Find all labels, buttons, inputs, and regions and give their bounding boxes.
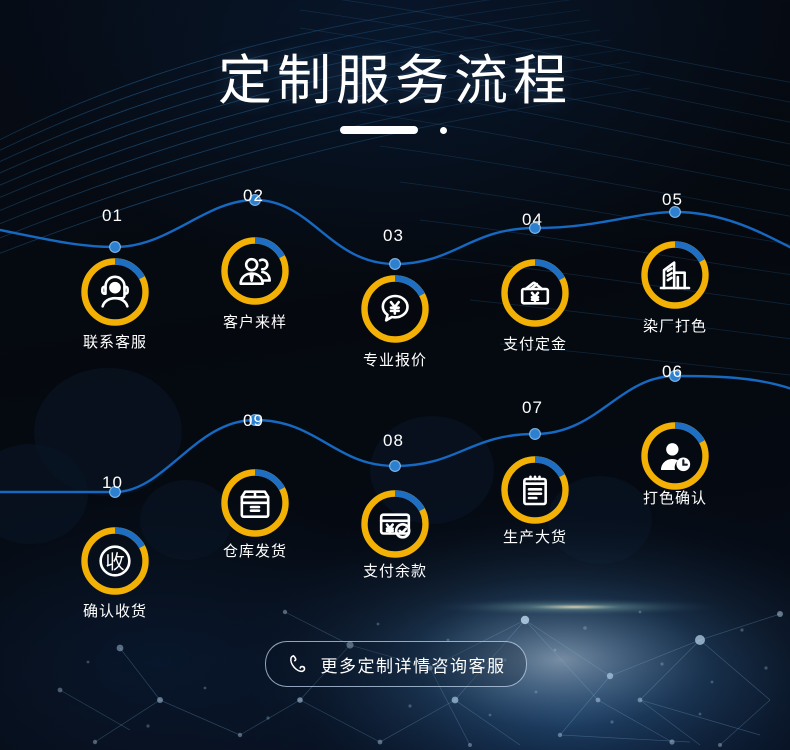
contact-service-label: 更多定制详情咨询客服 xyxy=(321,652,506,677)
process-step-06[interactable] xyxy=(638,419,712,493)
step-label-04: 支付定金 xyxy=(503,333,567,354)
step-ring-05 xyxy=(638,238,712,312)
step-ring-09 xyxy=(218,466,292,540)
quote-bubble-yen-icon xyxy=(358,272,432,346)
title-underline-icon xyxy=(340,124,450,136)
step-ring-02 xyxy=(218,234,292,308)
step-ring-03 xyxy=(358,272,432,346)
step-label-08: 支付余款 xyxy=(363,560,427,581)
process-step-04[interactable] xyxy=(498,256,572,330)
step-ring-10: 收 xyxy=(78,524,152,598)
process-step-10[interactable]: 收 xyxy=(78,524,152,598)
factory-building-icon xyxy=(638,238,712,312)
step-number-02: 02 xyxy=(243,186,264,206)
step-number-10: 10 xyxy=(102,473,123,493)
process-step-01[interactable] xyxy=(78,255,152,329)
process-step-07[interactable] xyxy=(498,453,572,527)
step-number-06: 06 xyxy=(662,362,683,382)
step-label-07: 生产大货 xyxy=(503,526,567,547)
step-ring-06 xyxy=(638,419,712,493)
clipboard-list-icon xyxy=(498,453,572,527)
step-number-05: 05 xyxy=(662,190,683,210)
parcel-box-icon xyxy=(218,466,292,540)
process-step-03[interactable] xyxy=(358,272,432,346)
infographic-canvas: 定制服务流程 01 联系客服02 xyxy=(0,0,790,750)
phone-call-icon xyxy=(287,653,309,675)
step-ring-01 xyxy=(78,255,152,329)
step-number-07: 07 xyxy=(522,398,543,418)
step-label-10: 确认收货 xyxy=(83,600,147,621)
contact-service-button[interactable]: 更多定制详情咨询客服 xyxy=(265,641,527,687)
step-label-09: 仓库发货 xyxy=(223,540,287,561)
wallet-yen-icon xyxy=(498,256,572,330)
step-number-08: 08 xyxy=(383,431,404,451)
receive-char-icon: 收 xyxy=(78,524,152,598)
step-ring-08 xyxy=(358,487,432,561)
step-label-05: 染厂打色 xyxy=(643,315,707,336)
process-step-05[interactable] xyxy=(638,238,712,312)
step-number-09: 09 xyxy=(243,411,264,431)
step-ring-04 xyxy=(498,256,572,330)
step-number-01: 01 xyxy=(102,206,123,226)
page-title-block: 定制服务流程 xyxy=(0,52,790,136)
headset-support-icon xyxy=(78,255,152,329)
title-underline-bar xyxy=(340,126,418,134)
process-step-02[interactable] xyxy=(218,234,292,308)
step-ring-07 xyxy=(498,453,572,527)
process-step-09[interactable] xyxy=(218,466,292,540)
step-number-04: 04 xyxy=(522,210,543,230)
step-label-01: 联系客服 xyxy=(83,331,147,352)
page-title: 定制服务流程 xyxy=(0,52,790,110)
step-label-06: 打色确认 xyxy=(643,487,707,508)
card-yen-check-icon xyxy=(358,487,432,561)
svg-text:收: 收 xyxy=(105,550,124,573)
step-number-03: 03 xyxy=(383,226,404,246)
step-label-02: 客户来样 xyxy=(223,311,287,332)
process-step-08[interactable] xyxy=(358,487,432,561)
title-underline-dot xyxy=(440,127,447,134)
step-label-03: 专业报价 xyxy=(363,349,427,370)
two-people-icon xyxy=(218,234,292,308)
person-clock-icon xyxy=(638,419,712,493)
